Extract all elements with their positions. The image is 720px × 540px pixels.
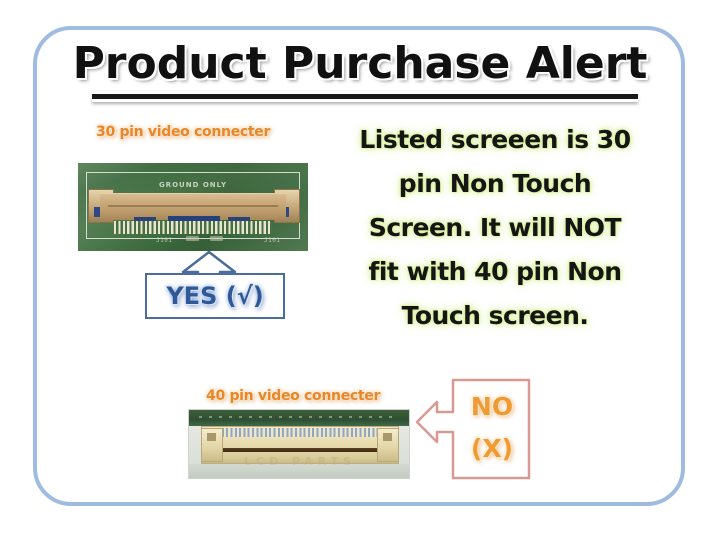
verdict-no-line-2: (X) — [459, 428, 525, 470]
caption-30-pin-connector: 30 pin video connecter — [96, 124, 270, 140]
verdict-yes-box: YES (√) — [145, 273, 285, 319]
verdict-yes-label: YES (√) — [166, 282, 263, 310]
connector-pins-30 — [114, 221, 272, 234]
verdict-no-line-1: NO — [459, 386, 525, 428]
board-marking-right: J101 — [264, 237, 280, 244]
panel-bottom-shade — [189, 464, 409, 478]
connector-pins-40 — [209, 428, 389, 437]
caption-40-pin-connector: 40 pin video connecter — [206, 388, 380, 404]
alert-message-line: pin Non Touch — [336, 162, 654, 206]
board-marking-left: J101 — [156, 237, 172, 244]
product-alert-poster: Product Purchase Alert 30 pin video conn… — [0, 0, 720, 540]
connector-end-block-left — [201, 428, 223, 462]
alert-message-line: Listed screeen is 30 — [336, 118, 654, 162]
verdict-no-callout: NO (X) — [415, 378, 531, 480]
alert-message: Listed screeen is 30 pin Non Touch Scree… — [336, 118, 654, 338]
smd-component-a — [186, 236, 199, 241]
title-underline — [92, 94, 638, 99]
alert-message-line: fit with 40 pin Non — [336, 250, 654, 294]
alert-message-line: Touch screen. — [336, 294, 654, 338]
photo-30-pin-connector: GROUND ONLY J101 J101 — [78, 163, 308, 251]
connector-end-block-right — [377, 428, 399, 462]
connector-slot-40 — [217, 448, 383, 452]
panel-top-strip — [189, 410, 409, 426]
smd-component-b — [210, 236, 223, 241]
page-title-container: Product Purchase Alert — [60, 38, 660, 90]
silkscreen-label: GROUND ONLY — [78, 181, 308, 189]
page-title: Product Purchase Alert — [60, 38, 660, 90]
photo-40-pin-connector: LCD PARTS — [188, 409, 410, 479]
verdict-no-label: NO (X) — [459, 386, 525, 470]
alert-message-line: Screen. It will NOT — [336, 206, 654, 250]
